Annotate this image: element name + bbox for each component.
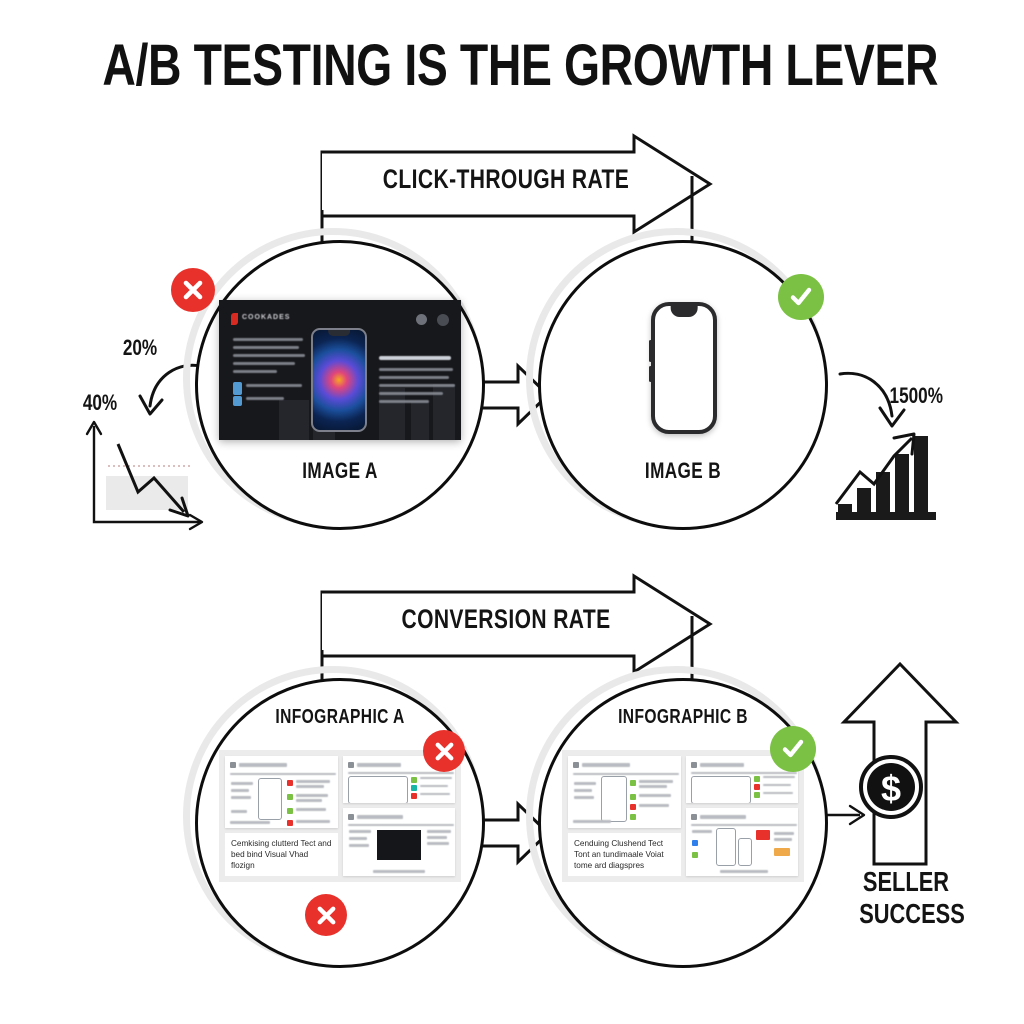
sheet-caption-a: Cemkising clutterd Tect and bed bind Vis… xyxy=(225,833,338,876)
sheet-card xyxy=(343,808,456,876)
node-image-b[interactable]: IMAGE B xyxy=(538,240,828,530)
node-label-infographic-a: INFOGRAPHIC A xyxy=(227,706,453,729)
sheet-card xyxy=(568,756,681,828)
status-badge-pass-infographic-b xyxy=(770,726,816,772)
caption-text: Cenduing Clushend Tect Tont an tundimaal… xyxy=(574,838,675,871)
phone-mockup-b xyxy=(651,302,717,434)
cross-icon xyxy=(181,278,205,302)
metric-decline-secondary: 40% xyxy=(83,390,117,416)
sheet-caption-b: Cenduing Clushend Tect Tont an tundimaal… xyxy=(568,833,681,876)
cross-icon xyxy=(315,904,338,927)
banner-label-ctr: CLICK-THROUGH RATE xyxy=(342,164,670,195)
outcome-label-line2: SUCCESS xyxy=(859,898,953,930)
banner-label-conversion: CONVERSION RATE xyxy=(342,604,670,635)
status-badge-fail-infographic-a-right xyxy=(423,730,465,772)
sheet-card xyxy=(686,808,799,876)
node-label-image-a: IMAGE A xyxy=(227,458,453,484)
decline-chart xyxy=(78,418,208,534)
node-image-a[interactable]: COOKADES IMAGE A xyxy=(195,240,485,530)
check-icon xyxy=(788,284,814,310)
check-icon xyxy=(780,736,806,762)
sheet-card xyxy=(225,756,338,828)
metric-growth: 1500% xyxy=(890,383,943,409)
caption-text: Cemkising clutterd Tect and bed bind Vis… xyxy=(231,838,332,871)
infographic-canvas: A/B TESTING IS THE GROWTH LEVER CLICK-TH… xyxy=(0,0,1024,1024)
status-badge-fail-image-a xyxy=(171,268,215,312)
phone-side-button xyxy=(649,340,652,362)
infographic-sheet-a: Cemkising clutterd Tect and bed bind Vis… xyxy=(219,750,461,882)
dollar-coin-icon: $ xyxy=(858,754,924,820)
node-label-image-b: IMAGE B xyxy=(570,458,796,484)
cross-icon xyxy=(433,740,456,763)
status-badge-pass-image-b xyxy=(778,274,824,320)
metric-decline-primary: 20% xyxy=(123,335,157,361)
node-infographic-a[interactable]: INFOGRAPHIC A xyxy=(195,678,485,968)
node-label-infographic-b: INFOGRAPHIC B xyxy=(570,706,796,729)
phone-notch xyxy=(671,306,698,317)
ad-mockup-a: COOKADES xyxy=(219,300,461,440)
svg-text:$: $ xyxy=(881,768,901,809)
growth-bar-chart xyxy=(832,420,944,530)
page-title: A/B TESTING IS THE GROWTH LEVER xyxy=(102,32,921,99)
infographic-sheet-b: Cenduing Clushend Tect Tont an tundimaal… xyxy=(562,750,804,882)
status-badge-fail-infographic-a-bottom xyxy=(305,894,347,936)
node-infographic-b[interactable]: INFOGRAPHIC B xyxy=(538,678,828,968)
outcome-label-line1: SELLER xyxy=(859,866,953,898)
phone-side-button xyxy=(649,366,652,382)
